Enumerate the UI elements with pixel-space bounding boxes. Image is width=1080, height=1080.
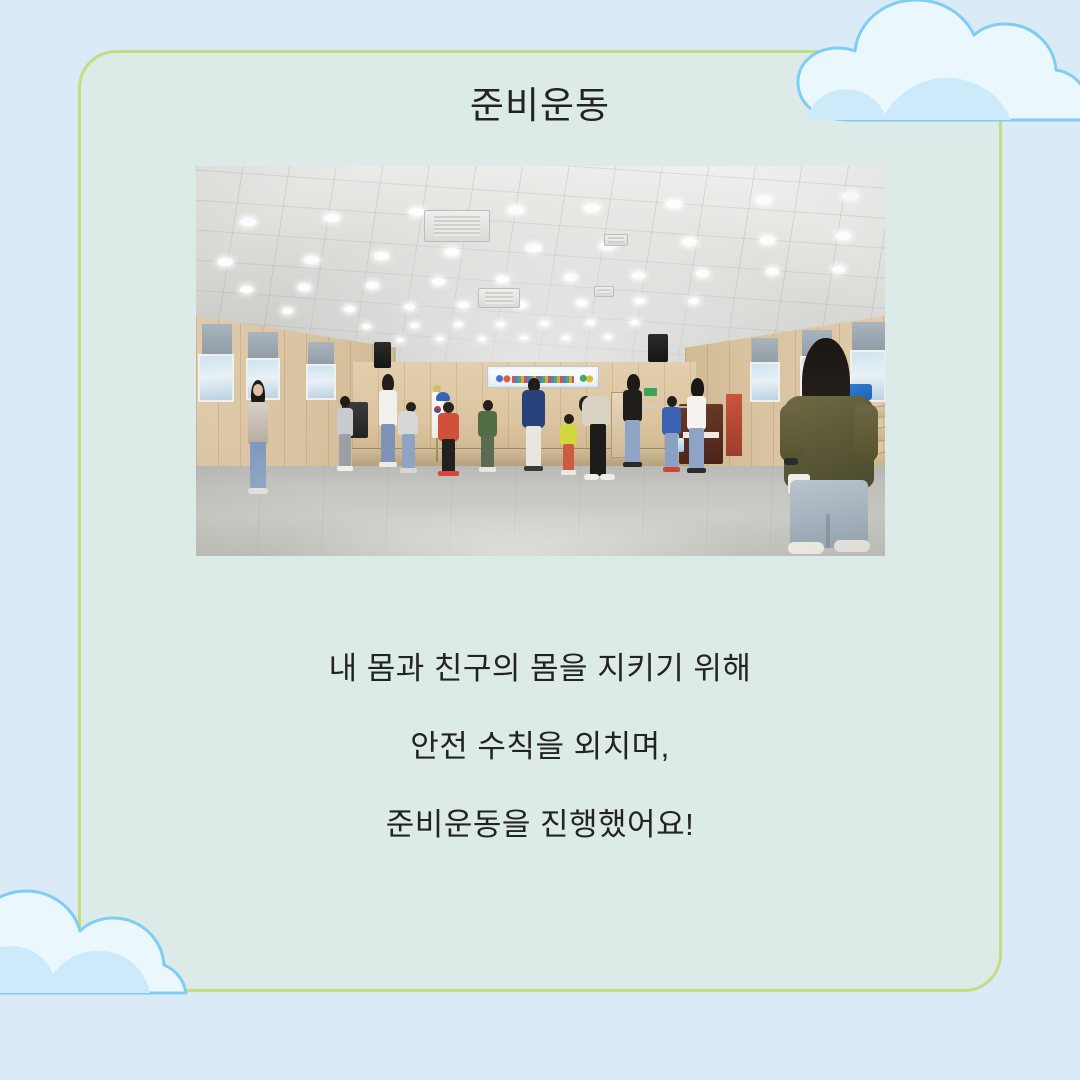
caption-block: 내 몸과 친구의 몸을 지키기 위해 안전 수칙을 외치며, 준비운동을 진행했… — [0, 630, 1080, 864]
cloud-top-right-decoration — [792, 0, 1080, 130]
activity-photo — [196, 166, 885, 556]
photo-vignette — [196, 166, 885, 556]
caption-line-3: 준비운동을 진행했어요! — [0, 786, 1080, 864]
cloud-bottom-left-decoration — [0, 867, 250, 1002]
caption-line-1: 내 몸과 친구의 몸을 지키기 위해 — [0, 630, 1080, 708]
caption-line-2: 안전 수칙을 외치며, — [0, 708, 1080, 786]
slide-root: { "slide": { "title": "준비운동", "caption_l… — [0, 0, 1080, 1080]
